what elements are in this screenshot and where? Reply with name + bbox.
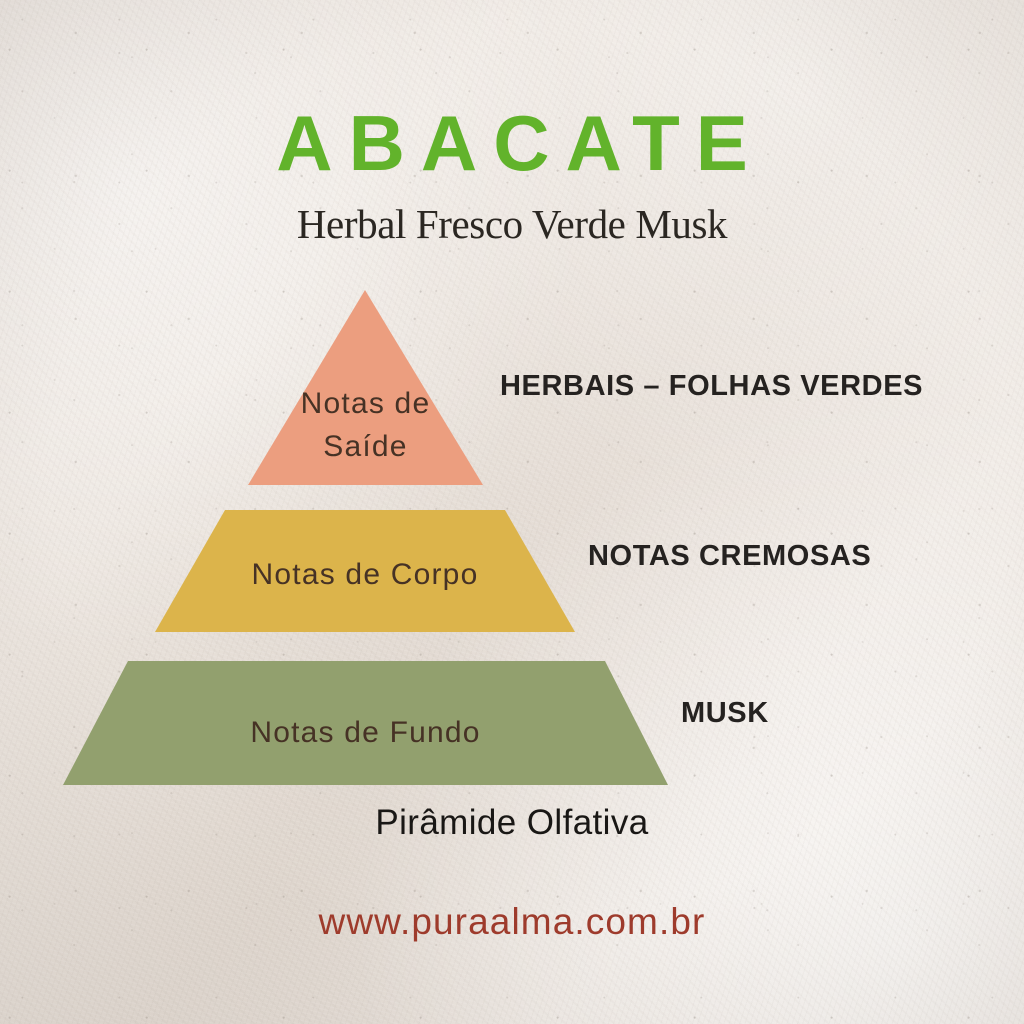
note-descriptor-bottom: MUSK xyxy=(681,697,769,730)
website-url: www.puraalma.com.br xyxy=(0,901,1024,943)
pyramid-layer-middle-label: Notas de Corpo xyxy=(155,554,575,597)
pyramid-layer-bottom-label: Notas de Fundo xyxy=(63,712,668,755)
olfactory-pyramid-diagram xyxy=(0,0,1024,1024)
poster-canvas: ABACATE Herbal Fresco Verde Musk Notas d… xyxy=(0,0,1024,1024)
note-descriptor-middle: NOTAS CREMOSAS xyxy=(588,540,871,573)
pyramid-layer-top-label: Notas de Saíde xyxy=(248,383,483,468)
note-descriptor-top: HERBAIS – FOLHAS VERDES xyxy=(500,370,923,403)
pyramid-caption: Pirâmide Olfativa xyxy=(0,803,1024,843)
